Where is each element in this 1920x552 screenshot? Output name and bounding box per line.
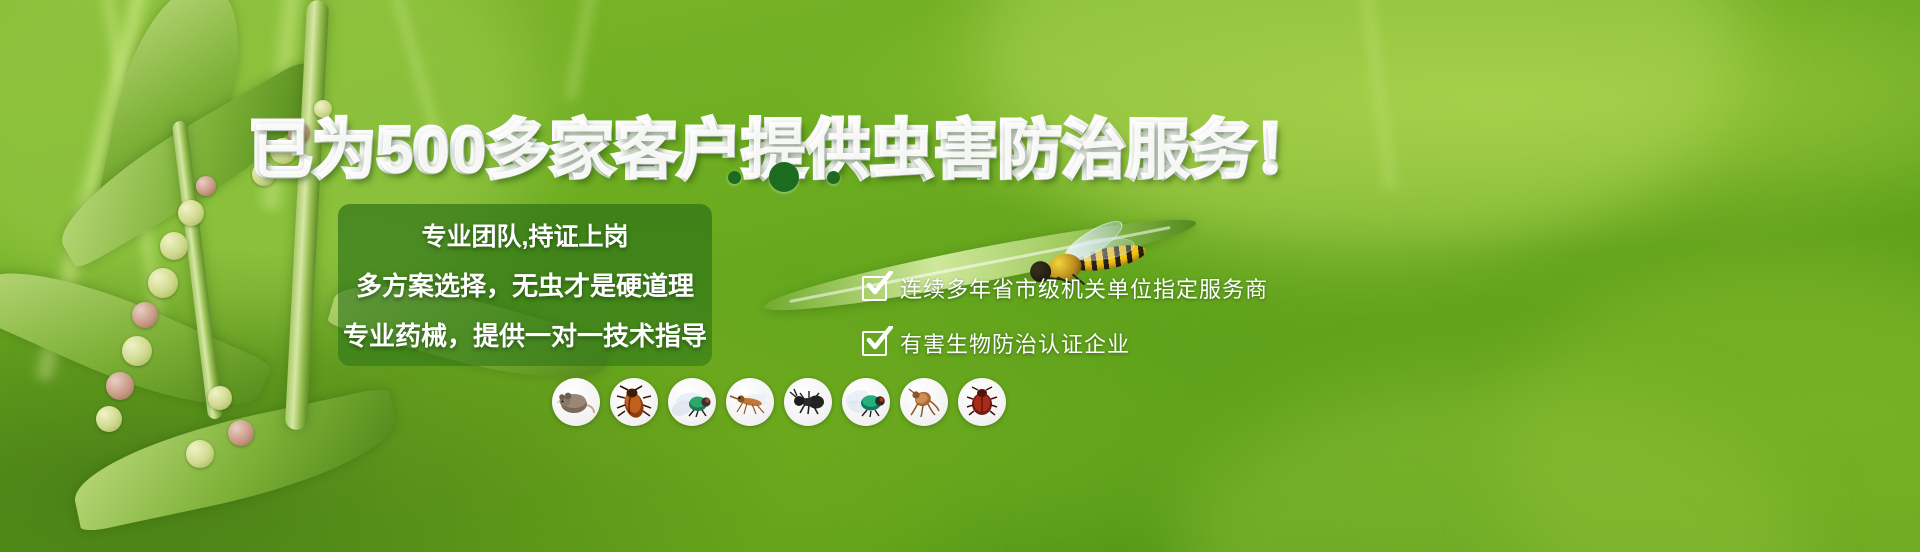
fly-green-icon: 绿头苍蝇: [842, 378, 890, 426]
flower-bud: [96, 406, 122, 432]
flower-bud: [122, 336, 152, 366]
bullet-text: 有害生物防治认证企业: [900, 327, 1130, 359]
check-mark-icon: [865, 271, 893, 297]
flower-bud: [160, 232, 188, 260]
flower-bud: [186, 440, 214, 468]
selling-point-line-2: 多方案选择，无虫才是硬道理: [356, 266, 694, 303]
check-mark-icon: [865, 326, 893, 352]
flower-bud: [228, 420, 254, 446]
fly-icon: 苍蝇: [668, 378, 716, 426]
flower-bud: [208, 386, 232, 410]
pest-icon-row: 鼠 蟑螂: [552, 378, 1006, 426]
flower-bud: [132, 302, 158, 328]
bullet-text: 连续多年省市级机关单位指定服务商: [900, 272, 1268, 304]
checkbox-checked-icon: [862, 331, 887, 356]
dot-small-right: [827, 171, 840, 184]
credential-bullet-list: 连续多年省市级机关单位指定服务商 有害生物防治认证企业: [862, 272, 1268, 359]
bedbug-icon: 臭虫: [958, 378, 1006, 426]
promo-banner: 已为500多家客户提供虫害防治服务！ 专业团队,持证上岗 多方案选择，无虫才是硬…: [0, 0, 1920, 552]
flower-bud: [148, 268, 178, 298]
flower-bud: [178, 200, 204, 226]
selling-point-line-3: 专业药械，提供一对一技术指导: [343, 316, 707, 353]
decorative-dots: [0, 162, 1568, 192]
dot-small-left: [728, 171, 741, 184]
selling-points-panel: 专业团队,持证上岗 多方案选择，无虫才是硬道理 专业药械，提供一对一技术指导: [338, 204, 712, 366]
selling-point-line-1: 专业团队,持证上岗: [422, 217, 629, 253]
cockroach-icon: 蟑螂: [610, 378, 658, 426]
flea-icon: 跳蚤: [900, 378, 948, 426]
mouse-icon: 鼠: [552, 378, 600, 426]
mosquito-icon: 蚊: [726, 378, 774, 426]
dot-large-center: [769, 162, 799, 192]
flower-bud: [106, 372, 134, 400]
ant-icon: 蚂蚁: [784, 378, 832, 426]
list-item: 有害生物防治认证企业: [862, 327, 1268, 359]
list-item: 连续多年省市级机关单位指定服务商: [862, 272, 1268, 304]
checkbox-checked-icon: [862, 276, 887, 301]
